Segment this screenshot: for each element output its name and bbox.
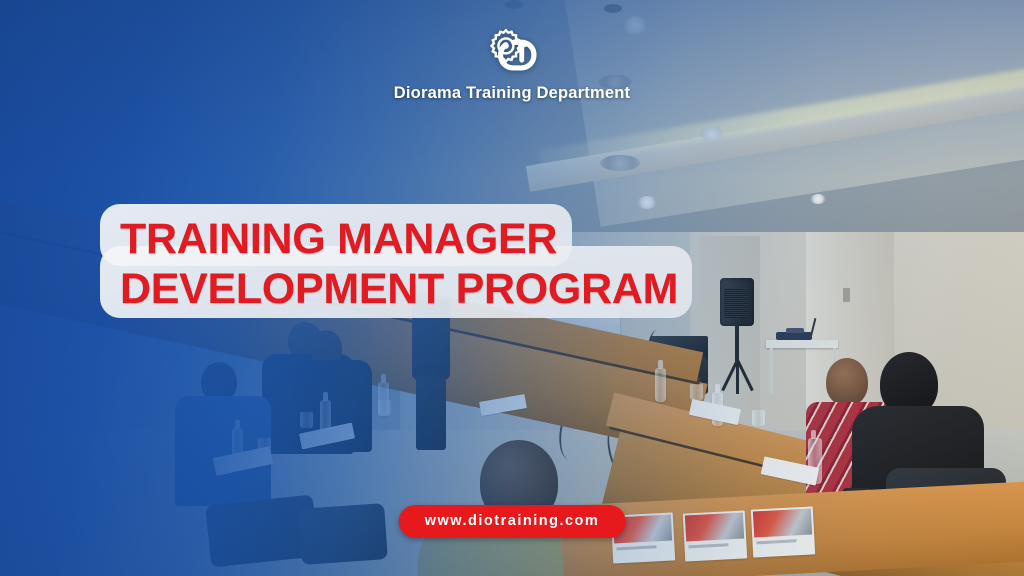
brand-name: Diorama Training Department <box>394 84 630 103</box>
gear-logo-icon <box>486 26 538 78</box>
brand-header: Diorama Training Department <box>0 26 1024 103</box>
title-line-1: TRAINING MANAGER <box>120 214 678 264</box>
title-line-2: DEVELOPMENT PROGRAM <box>120 264 678 314</box>
website-url-badge[interactable]: www.diotraining.com <box>399 505 626 538</box>
promo-banner: Diorama Training Department TRAINING MAN… <box>0 0 1024 576</box>
title-card: TRAINING MANAGER DEVELOPMENT PROGRAM <box>100 204 700 326</box>
page-title: TRAINING MANAGER DEVELOPMENT PROGRAM <box>100 204 700 326</box>
